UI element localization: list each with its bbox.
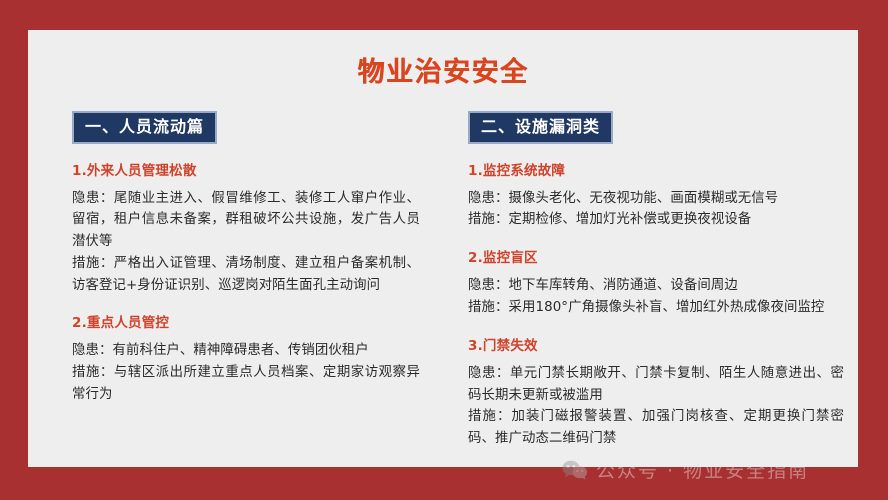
body-line: 隐患：摄像头老化、无夜视功能、画面模糊或无信号 — [468, 188, 844, 210]
column-left: 一、人员流动篇 1.外来人员管理松散 隐患：尾随业主进入、假冒维修工、装修工人窜… — [28, 111, 430, 450]
section-header-wrap-2: 二、设施漏洞类 — [468, 111, 844, 144]
sub-heading-1-2: 2.重点人员管控 — [72, 315, 420, 331]
body-line: 措施：加装门磁报警装置、加强门岗核查、定期更换门禁密码、推广动态二维码门禁 — [468, 406, 844, 449]
section-header-2: 二、设施漏洞类 — [468, 111, 613, 144]
content-columns: 一、人员流动篇 1.外来人员管理松散 隐患：尾随业主进入、假冒维修工、装修工人窜… — [28, 111, 858, 450]
sub-heading-2-1: 1.监控系统故障 — [468, 163, 844, 179]
body-line: 隐患：有前科住户、精神障碍患者、传销团伙租户 — [72, 340, 420, 362]
section-header-1: 一、人员流动篇 — [72, 111, 217, 144]
body-line: 措施：采用180°广角摄像头补盲、增加红外热成像夜间监控 — [468, 297, 844, 319]
section-header-wrap-1: 一、人员流动篇 — [72, 111, 420, 144]
column-right: 二、设施漏洞类 1.监控系统故障 隐患：摄像头老化、无夜视功能、画面模糊或无信号… — [430, 111, 858, 450]
sub-heading-2-2: 2.监控盲区 — [468, 250, 844, 266]
body-block-1-1: 隐患：尾随业主进入、假冒维修工、装修工人窜户作业、留宿，租户信息未备案，群租破坏… — [72, 188, 420, 297]
body-line: 措施：严格出入证管理、清场制度、建立租户备案机制、访客登记+身份证识别、巡逻岗对… — [72, 253, 420, 296]
slide-panel: 物业治安安全 一、人员流动篇 1.外来人员管理松散 隐患：尾随业主进入、假冒维修… — [28, 30, 858, 467]
sub-heading-2-3: 3.门禁失效 — [468, 338, 844, 354]
body-line: 措施：定期检修、增加灯光补偿或更换夜视设备 — [468, 209, 844, 231]
body-line: 隐患：尾随业主进入、假冒维修工、装修工人窜户作业、留宿，租户信息未备案，群租破坏… — [72, 188, 420, 253]
body-block-2-3: 隐患：单元门禁长期敞开、门禁卡复制、陌生人随意进出、密码长期未更新或被滥用 措施… — [468, 363, 844, 450]
body-line: 措施：与辖区派出所建立重点人员档案、定期家访观察异常行为 — [72, 362, 420, 405]
page-title: 物业治安安全 — [28, 58, 858, 88]
body-block-2-1: 隐患：摄像头老化、无夜视功能、画面模糊或无信号 措施：定期检修、增加灯光补偿或更… — [468, 188, 844, 231]
body-line: 隐患：地下车库转角、消防通道、设备间周边 — [468, 275, 844, 297]
body-line: 隐患：单元门禁长期敞开、门禁卡复制、陌生人随意进出、密码长期未更新或被滥用 — [468, 363, 844, 406]
sub-heading-1-1: 1.外来人员管理松散 — [72, 163, 420, 179]
body-block-1-2: 隐患：有前科住户、精神障碍患者、传销团伙租户 措施：与辖区派出所建立重点人员档案… — [72, 340, 420, 405]
slide-root: 物业治安安全 一、人员流动篇 1.外来人员管理松散 隐患：尾随业主进入、假冒维修… — [0, 0, 888, 500]
body-block-2-2: 隐患：地下车库转角、消防通道、设备间周边 措施：采用180°广角摄像头补盲、增加… — [468, 275, 844, 318]
